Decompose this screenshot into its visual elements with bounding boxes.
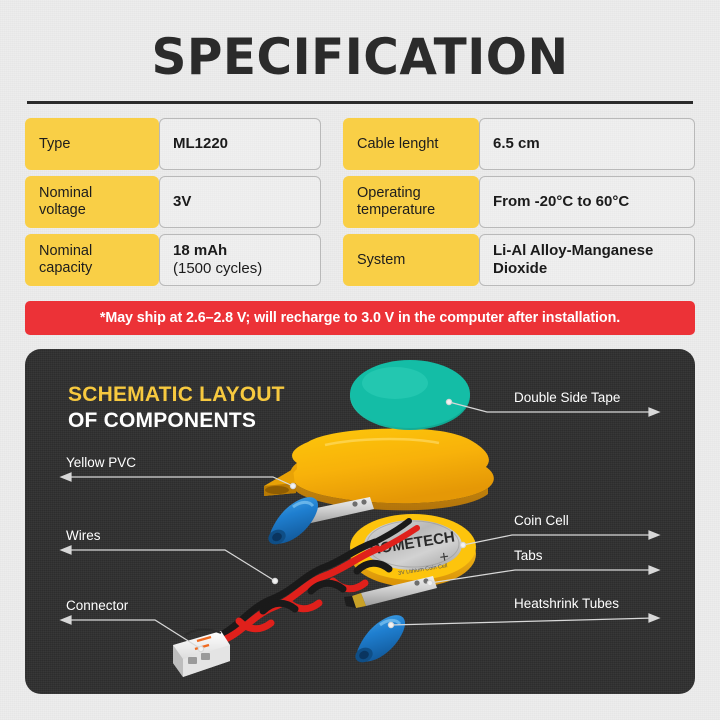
schematic-heading-line2: OF COMPONENTS [68, 408, 285, 434]
spec-key-operating-temperature: Operating temperature [343, 176, 479, 228]
specification-table: Type ML1220 Cable lenght 6.5 cm Nominal … [25, 118, 695, 286]
page-title: SPECIFICATION [11, 29, 709, 85]
spec-value-system-main: Li-Al Alloy-Manganese Dioxide [493, 242, 681, 278]
callout-label-double-side-tape: Double Side Tape [514, 390, 620, 406]
spec-key-type: Type [25, 118, 159, 170]
schematic-panel: SCHEMATIC LAYOUT OF COMPONENTS [25, 349, 695, 694]
spec-value-cable-length-main: 6.5 cm [493, 135, 681, 153]
column-gap [321, 176, 343, 228]
callout-label-coin-cell: Coin Cell [514, 513, 569, 529]
leader-heatshrink-tubes [391, 618, 655, 625]
spec-value-operating-temperature-main: From -20°C to 60°C [493, 193, 681, 211]
spec-value-operating-temperature: From -20°C to 60°C [479, 176, 695, 228]
schematic-heading-line1: SCHEMATIC LAYOUT [68, 382, 285, 408]
spec-value-type: ML1220 [159, 118, 321, 170]
arrowhead-tabs [649, 566, 659, 574]
spec-key-nominal-capacity: Nominal capacity [25, 234, 159, 286]
spec-value-nominal-voltage: 3V [159, 176, 321, 228]
spec-value-nominal-voltage-main: 3V [173, 193, 307, 211]
spec-value-cable-length: 6.5 cm [479, 118, 695, 170]
arrowhead-heatshrink-tubes [649, 614, 659, 622]
callout-label-connector: Connector [66, 598, 128, 614]
spec-value-type-main: ML1220 [173, 135, 307, 153]
leader-tabs [430, 570, 655, 583]
callout-label-wires: Wires [66, 528, 101, 544]
spec-key-nominal-voltage: Nominal voltage [25, 176, 159, 228]
column-gap [321, 118, 343, 170]
spec-value-nominal-capacity-main: 18 mAh [173, 242, 307, 260]
shipping-voltage-notice: *May ship at 2.6–2.8 V; will recharge to… [25, 301, 695, 335]
arrowhead-connector [61, 616, 71, 624]
title-divider [27, 101, 693, 104]
callout-label-heatshrink-tubes: Heatshrink Tubes [514, 596, 619, 612]
leader-wires [66, 550, 275, 581]
schematic-heading: SCHEMATIC LAYOUT OF COMPONENTS [68, 382, 285, 434]
spec-value-nominal-capacity-sub: (1500 cycles) [173, 260, 307, 278]
arrowhead-yellow-pvc [61, 473, 71, 481]
arrowhead-coin-cell [649, 531, 659, 539]
column-gap [321, 234, 343, 286]
leader-connector [66, 620, 201, 649]
spec-value-system: Li-Al Alloy-Manganese Dioxide [479, 234, 695, 286]
spec-key-cable-length: Cable lenght [343, 118, 479, 170]
spec-value-nominal-capacity: 18 mAh (1500 cycles) [159, 234, 321, 286]
leader-yellow-pvc [66, 477, 293, 486]
callout-label-yellow-pvc: Yellow PVC [66, 455, 136, 471]
arrowhead-double-side-tape [649, 408, 659, 416]
arrowhead-wires [61, 546, 71, 554]
leader-coin-cell [463, 535, 655, 545]
spec-key-system: System [343, 234, 479, 286]
callout-label-tabs: Tabs [514, 548, 543, 564]
